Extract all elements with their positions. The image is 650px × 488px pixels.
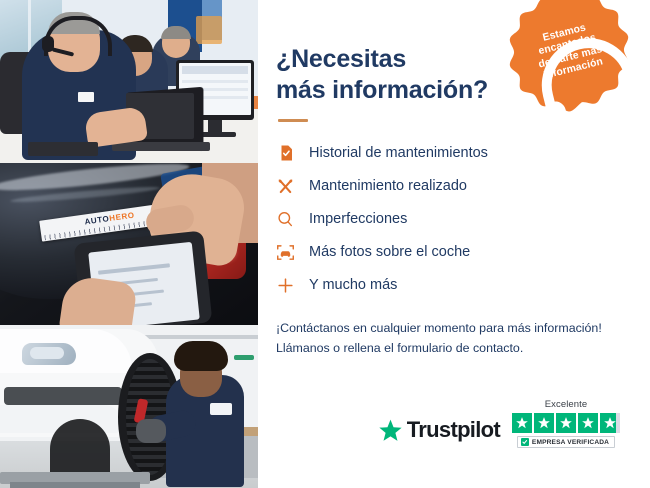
photo-column: AUTOHERO [0,0,258,488]
page-title: ¿Necesitas más información? [276,44,506,105]
rating-label: Excelente [545,399,588,410]
trustpilot-wordmark: Trustpilot [407,417,500,443]
feature-item-mucho-mas: Y mucho más [276,274,650,296]
content-panel: ¿Necesitas más información? Historial de… [258,0,650,488]
star-rating [512,413,620,433]
star-1 [512,413,532,433]
star-3 [556,413,576,433]
headline-line-1: ¿Necesitas [276,45,406,73]
cta-line-2: Llámanos o rellena el formulario de cont… [276,338,626,358]
contact-text: ¡Contáctanos en cualquier momento para m… [276,318,626,358]
wrench-screwdriver-icon [276,177,295,196]
feature-item-imperfecciones: Imperfecciones [276,208,650,230]
checklist-document-icon [276,144,295,163]
information-banner: AUTOHERO [0,0,650,488]
car-inspection-ruler-photo: AUTOHERO [0,163,258,325]
verified-badge: EMPRESA VERIFICADA [517,436,615,448]
feature-item-mantenimiento: Mantenimiento realizado [276,175,650,197]
cta-line-1: ¡Contáctanos en cualquier momento para m… [276,318,626,338]
title-divider [278,119,308,122]
feature-label: Mantenimiento realizado [309,178,467,194]
feature-label: Imperfecciones [309,211,407,227]
verified-check-icon [521,438,529,446]
star-5-partial [600,413,620,433]
trustpilot-star-icon [378,418,403,443]
plus-icon [276,276,295,295]
star-2 [534,413,554,433]
magnifier-icon [276,210,295,229]
status-badge: Estamos encantados de darte más informac… [506,0,632,114]
feature-item-fotos: Más fotos sobre el coche [276,241,650,263]
mechanic-wheel-photo [0,325,258,488]
feature-list: Historial de mantenimientos Mantenimient… [276,142,650,296]
trustpilot-widget[interactable]: Trustpilot Excelente EMPRESA VERIFICADA [378,399,620,448]
feature-label: Historial de mantenimientos [309,145,488,161]
star-4 [578,413,598,433]
headline-line-2: más información? [276,76,488,104]
feature-label: Más fotos sobre el coche [309,244,470,260]
feature-label: Y mucho más [309,277,397,293]
verified-label: EMPRESA VERIFICADA [532,439,609,446]
trustpilot-logo[interactable]: Trustpilot [378,417,500,448]
car-scan-icon [276,243,295,262]
call-center-agents-photo [0,0,258,163]
